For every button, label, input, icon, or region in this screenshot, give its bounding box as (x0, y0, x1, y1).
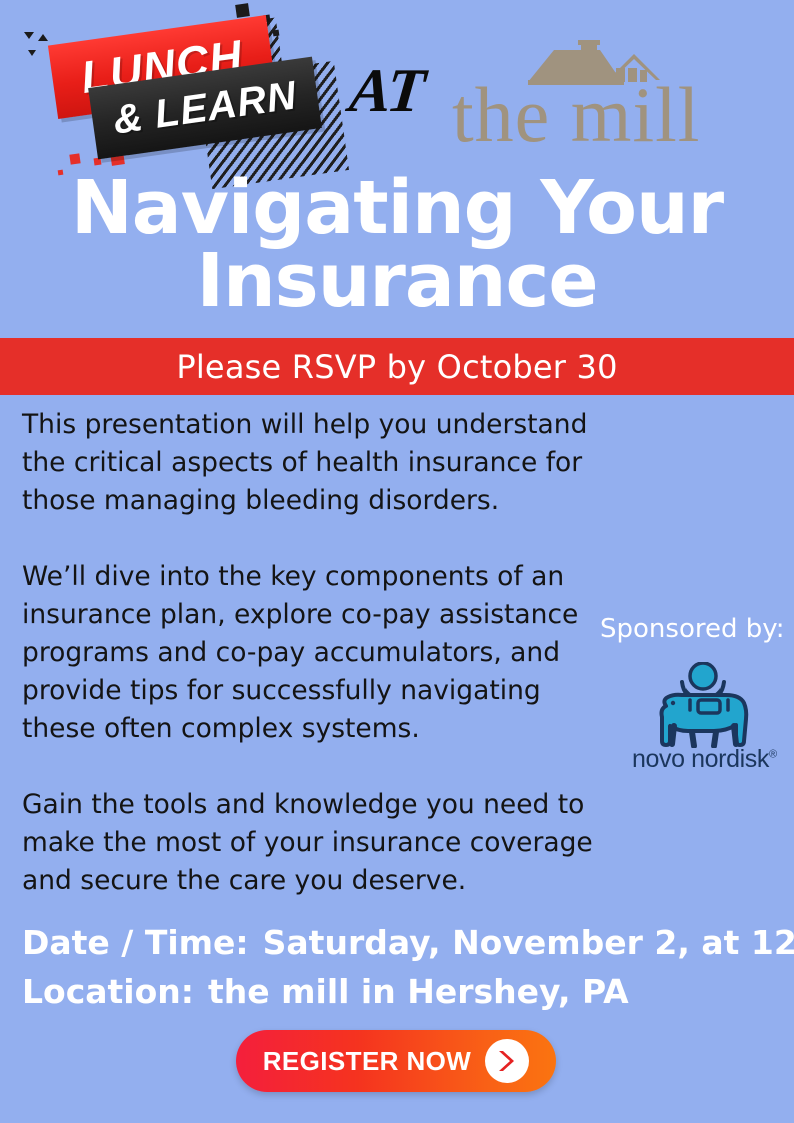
body-paragraph-2: We’ll dive into the key components of an… (22, 558, 622, 748)
confetti-triangle-3 (28, 50, 36, 56)
novo-nordisk-logo: novo nordisk® (632, 662, 792, 772)
the-mill-wordmark: the mill (452, 76, 724, 154)
detail-label-date-time: Date / Time: (22, 923, 249, 962)
detail-label-location: Location: (22, 972, 194, 1011)
detail-value-date-time: Saturday, November 2, at 12 PM (249, 923, 794, 962)
novo-nordisk-wordmark-text: novo nordisk (632, 745, 769, 773)
registered-mark: ® (769, 749, 777, 761)
rsvp-banner: Please RSVP by October 30 (0, 338, 794, 395)
confetti-triangle-1 (24, 32, 34, 39)
register-now-button[interactable]: REGISTER NOW (236, 1030, 556, 1092)
confetti-square-4 (273, 30, 280, 37)
detail-row-date-time: Date / Time:Saturday, November 2, at 12 … (22, 918, 782, 967)
sponsored-by-label: Sponsored by: (600, 612, 794, 646)
at-word: AT (346, 56, 427, 127)
register-now-label: REGISTER NOW (263, 1046, 471, 1077)
detail-value-location: the mill in Hershey, PA (194, 972, 629, 1011)
confetti-triangle-2 (38, 34, 48, 41)
lunch-and-learn-badge: LUNCH & LEARN (36, 2, 346, 182)
body-paragraph-1: This presentation will help you understa… (22, 406, 622, 520)
rsvp-banner-text: Please RSVP by October 30 (176, 348, 617, 386)
novo-nordisk-wordmark: novo nordisk® (632, 745, 792, 774)
page-title: Navigating Your Insurance (0, 172, 794, 317)
body-paragraph-3: Gain the tools and knowledge you need to… (22, 786, 622, 900)
page-title-line-1: Navigating Your (0, 172, 794, 245)
chevron-right-icon (485, 1039, 529, 1083)
sponsor-block: Sponsored by: (600, 612, 794, 646)
confetti-square-red-1 (69, 153, 80, 164)
apis-bull-icon (646, 662, 766, 748)
detail-row-location: Location:the mill in Hershey, PA (22, 967, 782, 1016)
poster-header: LUNCH & LEARN AT (0, 0, 794, 180)
body-copy: This presentation will help you understa… (22, 406, 622, 900)
confetti-square-1 (235, 3, 250, 18)
the-mill-logo: the mill (452, 40, 724, 150)
event-details: Date / Time:Saturday, November 2, at 12 … (22, 918, 782, 1016)
page-title-line-2: Insurance (0, 245, 794, 318)
poster-root: LUNCH & LEARN AT (0, 0, 794, 1123)
